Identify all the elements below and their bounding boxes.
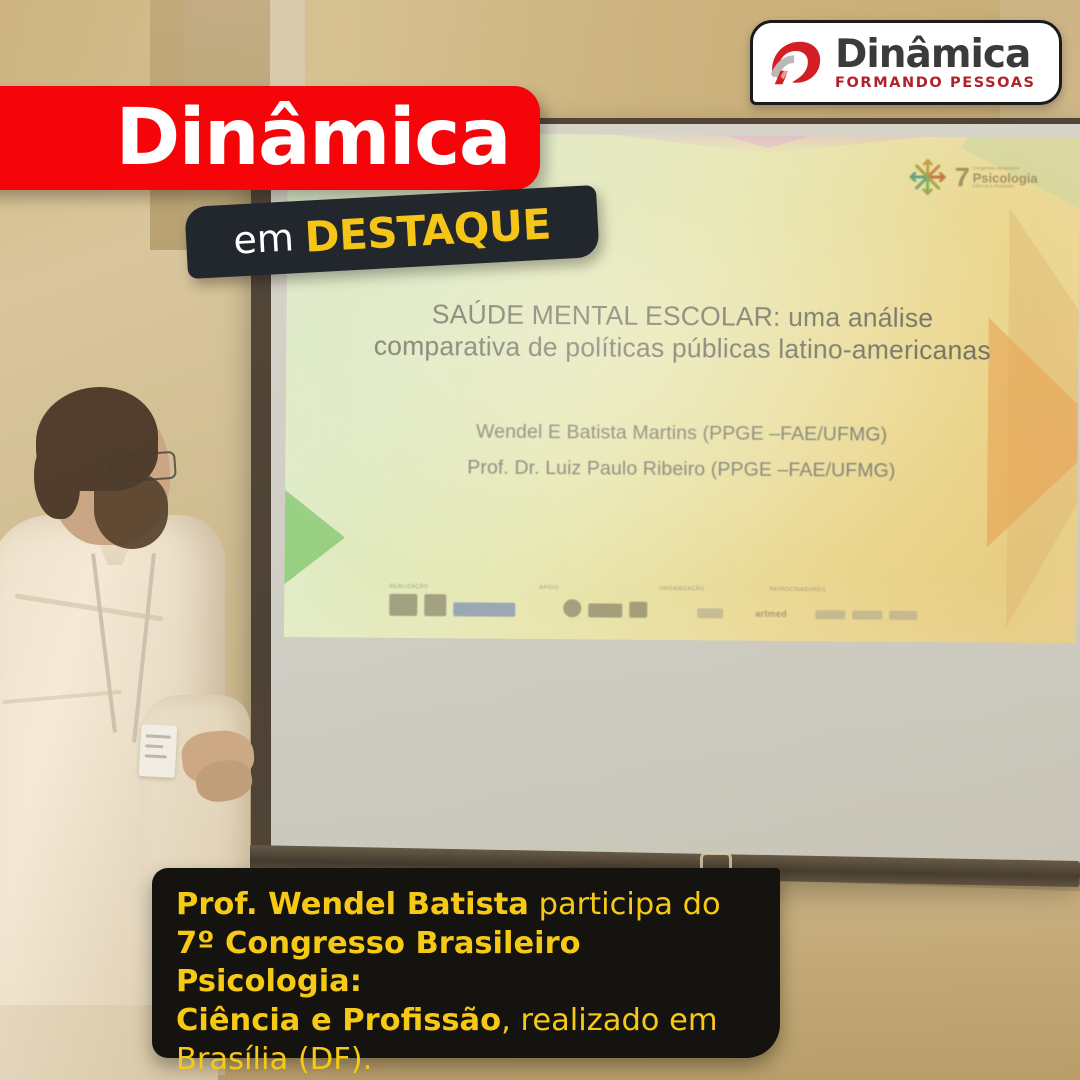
sponsor-logo-unb (629, 602, 647, 618)
sponsor-logo-artmed: artmed (755, 609, 787, 619)
social-post-canvas: 7 Congresso Brasileiro Psicologia Ciênci… (0, 0, 1080, 1080)
sponsor-logo-guia (852, 610, 882, 619)
slide-sponsor-strip: REALIZAÇÃO APOIO ORGANIZAÇÃO PATROCINADO… (389, 584, 989, 621)
sponsor-label-0: REALIZAÇÃO (389, 584, 539, 591)
slide-title-line1: SAÚDE MENTAL ESCOLAR: uma análise (346, 297, 1018, 335)
sponsor-logo-vetor (815, 610, 845, 619)
sponsor-logo-cira (697, 608, 723, 618)
caption-bold-name: Prof. Wendel Batista (176, 887, 529, 922)
congress-number: 7 (955, 166, 970, 189)
brand-banner-red: Dinâmica (0, 86, 540, 190)
slide-chevron-left-green (284, 482, 345, 593)
sponsor-label-1: APOIO (539, 585, 659, 592)
slide-title-line2: comparativa de políticas públicas latino… (346, 330, 1018, 368)
sponsor-logo-row: artmed (389, 594, 989, 621)
sponsor-label-3: PATROCINADORES (769, 587, 825, 593)
slide-author-2: Prof. Dr. Luiz Paulo Ribeiro (PPGE –FAE/… (345, 449, 1017, 490)
speaker-hair-side (34, 437, 80, 519)
speaker-glasses-icon (109, 451, 177, 484)
sponsor-logo-cnpq (588, 603, 622, 617)
sponsor-logo-cfp (453, 602, 515, 616)
sponsor-logo-fenpb (389, 594, 417, 616)
congress-wordmark: 7 Congresso Brasileiro Psicologia Ciênci… (955, 166, 1038, 190)
congress-logo: 7 Congresso Brasileiro Psicologia Ciênci… (905, 155, 1037, 200)
sponsor-logo-confe (563, 599, 581, 617)
company-logo-name: Dinâmica (835, 35, 1036, 74)
congress-starburst-icon (905, 155, 949, 199)
company-logo[interactable]: Dinâmica FORMANDO PESSOAS (750, 20, 1062, 105)
caption-plain-1: participa do (529, 887, 721, 922)
slide-title: SAÚDE MENTAL ESCOLAR: uma análise compar… (346, 297, 1018, 367)
caption-plain-3: Brasília (DF). (176, 1042, 372, 1077)
caption-box: Prof. Wendel Batista participa do 7º Con… (152, 868, 780, 1058)
caption-bold-event2: Ciência e Profissão (176, 1003, 501, 1038)
company-logo-tagline: FORMANDO PESSOAS (835, 76, 1036, 91)
speaker-name-badge (139, 724, 178, 778)
brand-banner-title: Dinâmica (115, 99, 510, 177)
caption-text: Prof. Wendel Batista participa do 7º Con… (176, 886, 754, 1080)
company-logo-wordmark: Dinâmica FORMANDO PESSOAS (835, 35, 1036, 91)
sponsor-label-2: ORGANIZAÇÃO (659, 586, 769, 593)
sponsor-group-labels: REALIZAÇÃO APOIO ORGANIZAÇÃO PATROCINADO… (389, 584, 989, 595)
brand-banner-prefix: em (232, 215, 295, 262)
slide-author-1: Wendel E Batista Martins (PPGE –FAE/UFMG… (346, 412, 1018, 453)
brand-banner-highlight: DESTAQUE (303, 199, 551, 261)
slide-authors: Wendel E Batista Martins (PPGE –FAE/UFMG… (345, 412, 1018, 489)
dinamica-logo-icon (765, 34, 827, 92)
sponsor-logo-hgrp (889, 611, 917, 620)
sponsor-logo-abep (424, 594, 446, 616)
caption-bold-event: 7º Congresso Brasileiro Psicologia: (176, 926, 581, 1000)
caption-plain-2: , realizado em (501, 1003, 718, 1038)
